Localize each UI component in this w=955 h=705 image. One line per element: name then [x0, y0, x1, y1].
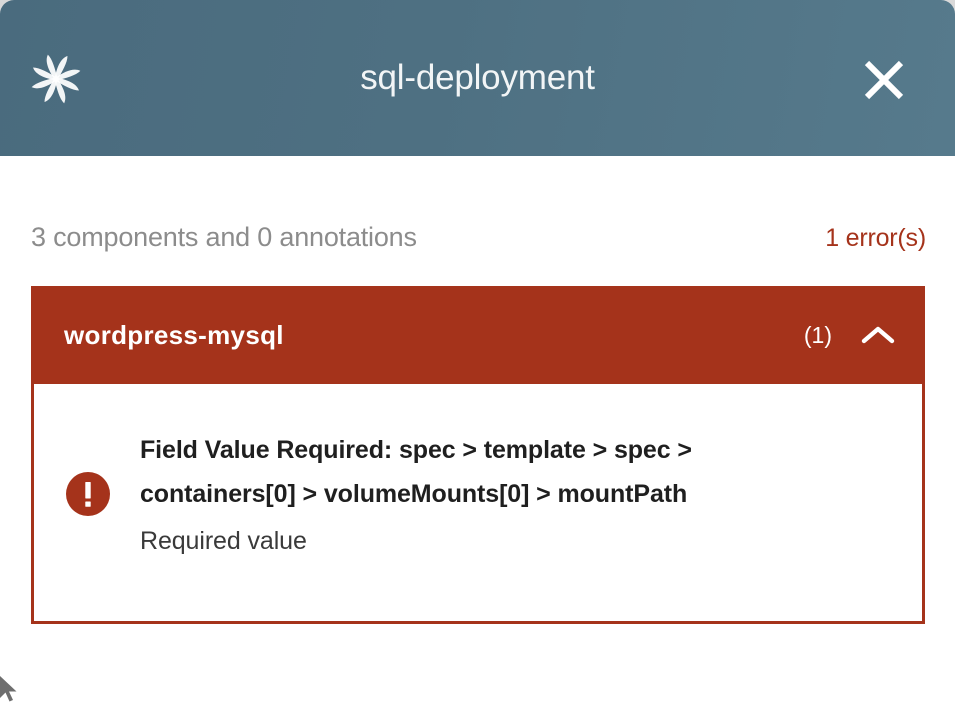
error-exclamation-icon [66, 472, 110, 516]
dialog-title: sql-deployment [0, 0, 955, 156]
accordion-body: Field Value Required: spec > template > … [31, 384, 925, 624]
dialog-window: sql-deployment 3 components and 0 annota… [0, 0, 955, 705]
error-message-title: Field Value Required: spec > template > … [140, 428, 740, 516]
chevron-up-icon[interactable] [861, 324, 895, 346]
accordion-header-wordpress-mysql[interactable]: wordpress-mysql (1) [31, 286, 925, 384]
error-count-label: 1 error(s) [825, 224, 926, 253]
error-list-item: Field Value Required: spec > template > … [66, 428, 892, 561]
accordion-resource-name: wordpress-mysql [64, 320, 804, 351]
error-text-block: Field Value Required: spec > template > … [140, 428, 892, 561]
mouse-cursor [0, 676, 22, 705]
close-icon[interactable] [860, 56, 908, 104]
resource-accordion: wordpress-mysql (1) Field Value [31, 286, 925, 624]
dialog-titlebar: sql-deployment [0, 0, 955, 156]
error-message-detail: Required value [140, 523, 892, 561]
accordion-error-count: (1) [804, 322, 832, 349]
summary-row: 3 components and 0 annotations 1 error(s… [31, 222, 926, 253]
components-count-label: 3 components and 0 annotations [31, 222, 417, 253]
